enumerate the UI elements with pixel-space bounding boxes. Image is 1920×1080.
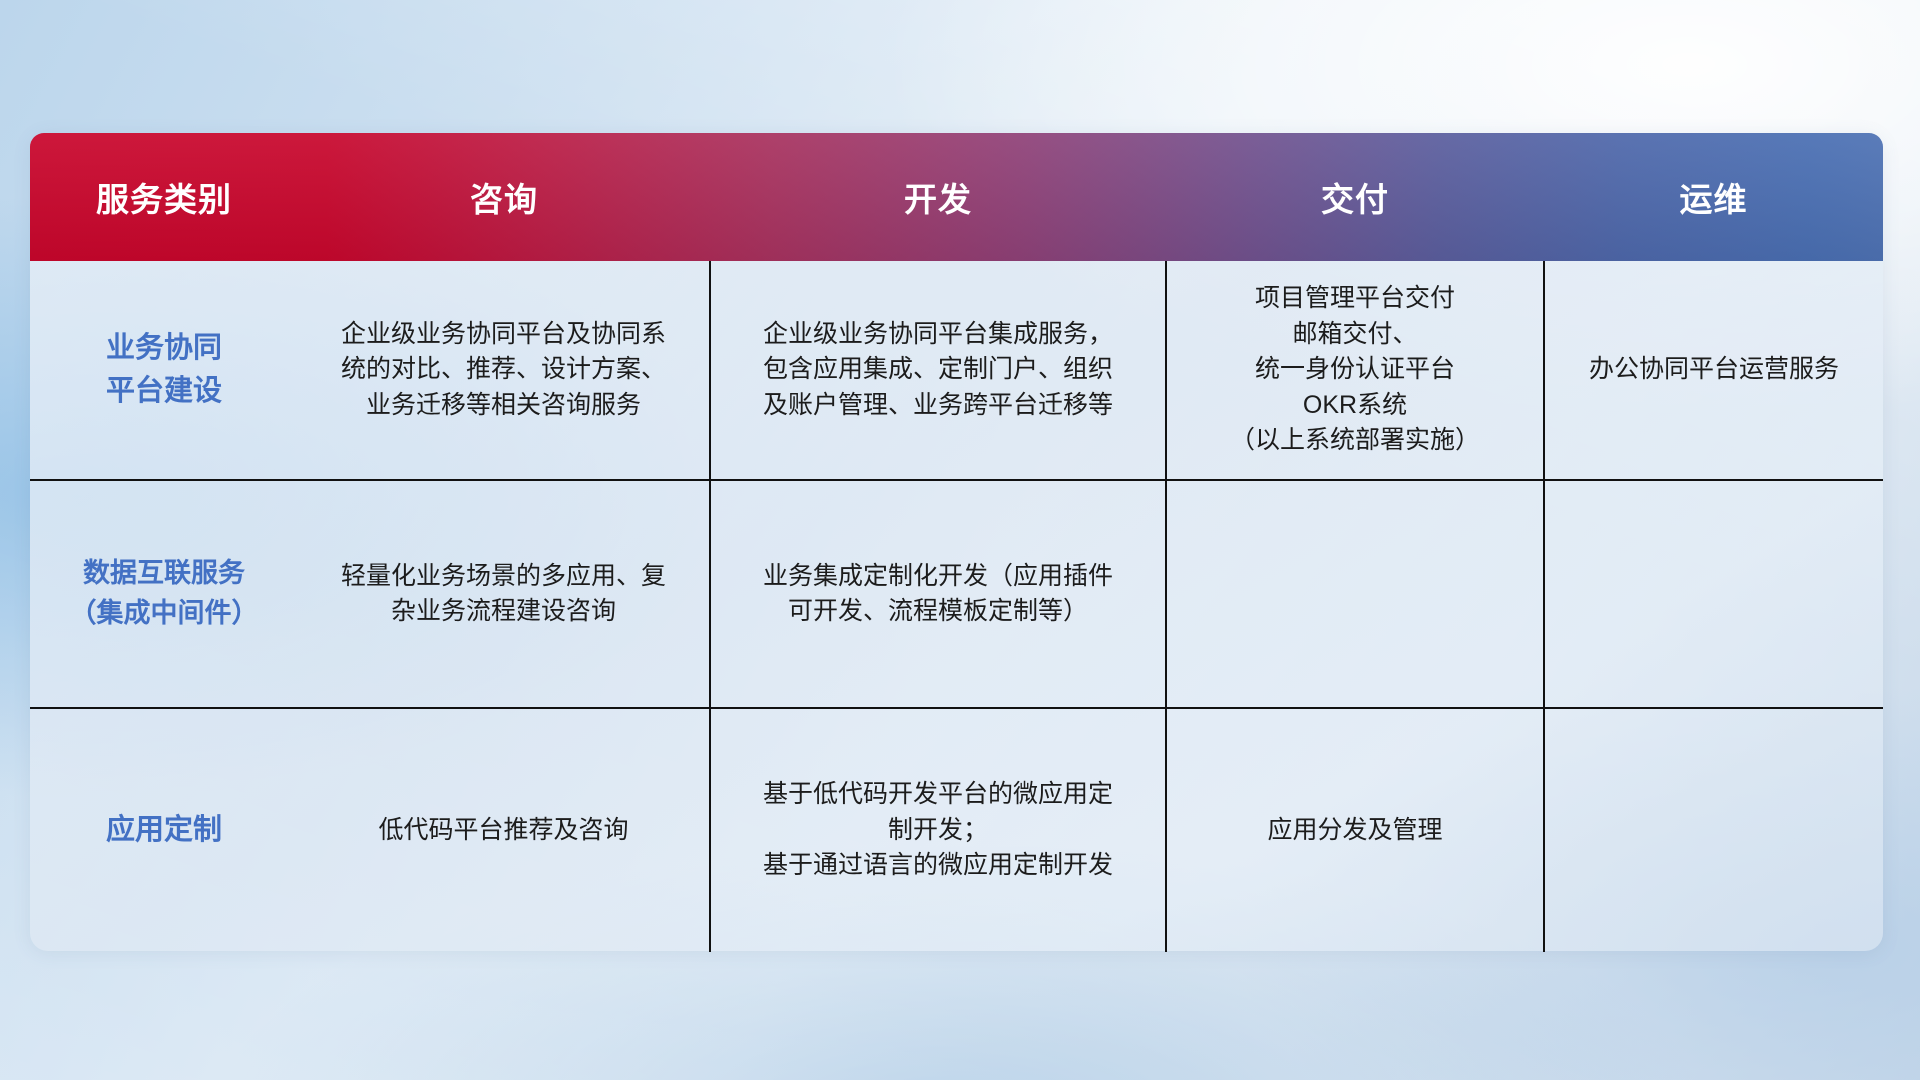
category-line: 业务协同 bbox=[46, 327, 282, 370]
cell-development: 企业级业务协同平台集成服务，包含应用集成、定制门户、组织及账户管理、业务跨平台迁… bbox=[710, 261, 1166, 480]
row-category-label: 数据互联服务（集成中间件） bbox=[30, 480, 298, 708]
category-line: 应用定制 bbox=[46, 809, 282, 852]
table-row: 应用定制低代码平台推荐及咨询基于低代码开发平台的微应用定制开发；基于通过语言的微… bbox=[30, 708, 1883, 952]
cell-line: 可开发、流程模板定制等） bbox=[727, 594, 1149, 630]
cell-line: 应用分发及管理 bbox=[1183, 813, 1527, 849]
header-row: 服务类别 咨询 开发 交付 运维 bbox=[30, 133, 1883, 261]
cell-operations bbox=[1544, 708, 1883, 952]
cell-operations: 办公协同平台运营服务 bbox=[1544, 261, 1883, 480]
cell-development: 业务集成定制化开发（应用插件可开发、流程模板定制等） bbox=[710, 480, 1166, 708]
table-row: 数据互联服务（集成中间件）轻量化业务场景的多应用、复杂业务流程建设咨询业务集成定… bbox=[30, 480, 1883, 708]
cell-development: 基于低代码开发平台的微应用定制开发；基于通过语言的微应用定制开发 bbox=[710, 708, 1166, 952]
column-header-consulting[interactable]: 咨询 bbox=[298, 133, 710, 261]
cell-consulting: 低代码平台推荐及咨询 bbox=[298, 708, 710, 952]
column-header-development[interactable]: 开发 bbox=[710, 133, 1166, 261]
category-line: 数据互联服务 bbox=[46, 554, 282, 594]
cell-line: 业务集成定制化开发（应用插件 bbox=[727, 559, 1149, 595]
cell-delivery bbox=[1166, 480, 1544, 708]
column-header-service-category[interactable]: 服务类别 bbox=[30, 133, 298, 261]
row-category-label: 业务协同平台建设 bbox=[30, 261, 298, 480]
cell-operations bbox=[1544, 480, 1883, 708]
cell-line: 包含应用集成、定制门户、组织 bbox=[727, 352, 1149, 388]
cell-line: 及账户管理、业务跨平台迁移等 bbox=[727, 388, 1149, 424]
cell-line: 邮箱交付、 bbox=[1183, 317, 1527, 353]
cell-consulting: 轻量化业务场景的多应用、复杂业务流程建设咨询 bbox=[298, 480, 710, 708]
cell-line: OKR系统 bbox=[1183, 388, 1527, 424]
cell-line: 办公协同平台运营服务 bbox=[1561, 352, 1867, 388]
row-category-label: 应用定制 bbox=[30, 708, 298, 952]
cell-delivery: 应用分发及管理 bbox=[1166, 708, 1544, 952]
cell-line: 统的对比、推荐、设计方案、 bbox=[314, 352, 693, 388]
table-row: 业务协同平台建设企业级业务协同平台及协同系统的对比、推荐、设计方案、业务迁移等相… bbox=[30, 261, 1883, 480]
table-body: 业务协同平台建设企业级业务协同平台及协同系统的对比、推荐、设计方案、业务迁移等相… bbox=[30, 261, 1883, 952]
cell-line: （以上系统部署实施） bbox=[1183, 423, 1527, 459]
cell-line: 轻量化业务场景的多应用、复 bbox=[314, 559, 693, 595]
cell-line: 低代码平台推荐及咨询 bbox=[314, 813, 693, 849]
cell-delivery: 项目管理平台交付邮箱交付、统一身份认证平台OKR系统（以上系统部署实施） bbox=[1166, 261, 1544, 480]
cell-line: 企业级业务协同平台及协同系 bbox=[314, 317, 693, 353]
service-matrix-table: 服务类别 咨询 开发 交付 运维 业务协同平台建设企业级业务协同平台及协同系统的… bbox=[30, 133, 1883, 952]
cell-line: 统一身份认证平台 bbox=[1183, 352, 1527, 388]
cell-line: 杂业务流程建设咨询 bbox=[314, 594, 693, 630]
cell-consulting: 企业级业务协同平台及协同系统的对比、推荐、设计方案、业务迁移等相关咨询服务 bbox=[298, 261, 710, 480]
column-header-operations[interactable]: 运维 bbox=[1544, 133, 1883, 261]
category-line: 平台建设 bbox=[46, 370, 282, 413]
cell-line: 基于通过语言的微应用定制开发 bbox=[727, 848, 1149, 884]
column-header-delivery[interactable]: 交付 bbox=[1166, 133, 1544, 261]
cell-line: 项目管理平台交付 bbox=[1183, 281, 1527, 317]
cell-line: 业务迁移等相关咨询服务 bbox=[314, 388, 693, 424]
cell-line: 制开发； bbox=[727, 813, 1149, 849]
category-line: （集成中间件） bbox=[46, 594, 282, 634]
table-header: 服务类别 咨询 开发 交付 运维 bbox=[30, 133, 1883, 261]
cell-line: 企业级业务协同平台集成服务， bbox=[727, 317, 1149, 353]
cell-line: 基于低代码开发平台的微应用定 bbox=[727, 777, 1149, 813]
